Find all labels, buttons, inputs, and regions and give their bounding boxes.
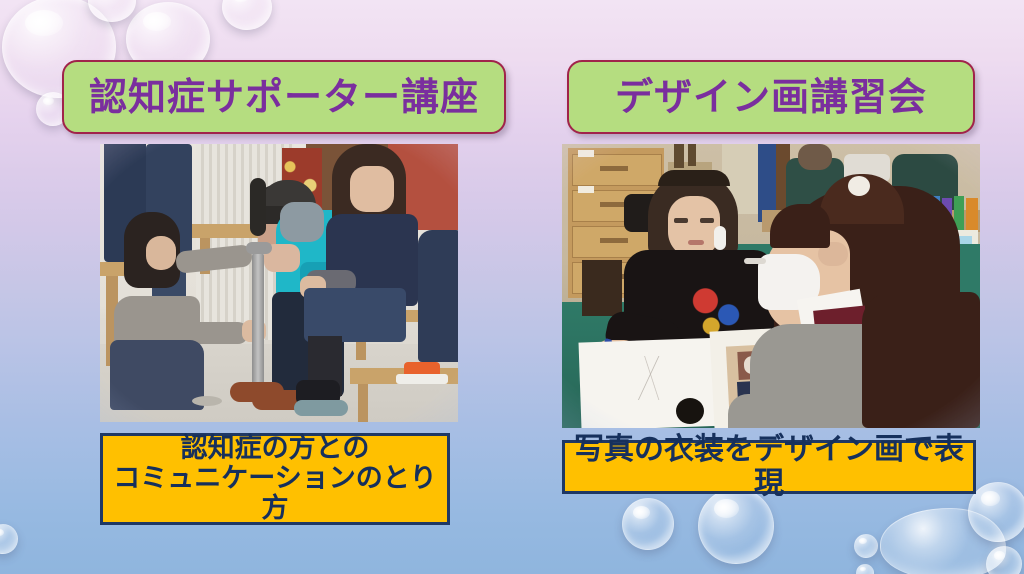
- bubble-bottom-right-corner: [968, 482, 1024, 542]
- photo-right-wrap: [562, 144, 980, 428]
- bubble-bottom-left-edge: [0, 524, 18, 554]
- bubble-bottom-small: [854, 534, 878, 558]
- title-text-right: デザイン画講習会: [615, 78, 927, 116]
- title-pill-left: 認知症サポーター講座: [62, 60, 506, 134]
- photo-right: [562, 144, 980, 428]
- title-text-left: 認知症サポーター講座: [89, 78, 479, 116]
- title-pill-right: デザイン画講習会: [567, 60, 975, 134]
- caption-box-left: 認知症の方との コミュニケーションのとり方: [100, 433, 450, 525]
- caption-text-left: 認知症の方との コミュニケーションのとり方: [103, 434, 447, 525]
- bubble-bottom-tiny: [856, 564, 874, 574]
- photo-left: [100, 144, 458, 422]
- slide-canvas: 認知症サポーター講座: [0, 0, 1024, 574]
- caption-box-right: 写真の衣装をデザイン画で表現: [562, 440, 976, 494]
- bubble-bottom-mid-a: [622, 498, 674, 550]
- bubble-bottom-right-blob: [880, 508, 1006, 574]
- caption-text-right: 写真の衣装をデザイン画で表現: [565, 433, 973, 500]
- photo-left-wrap: [100, 144, 458, 422]
- bubble-top-left-edge: [88, 0, 136, 22]
- bubble-bottom-right-small: [986, 546, 1022, 574]
- bubble-top-mid: [222, 0, 272, 30]
